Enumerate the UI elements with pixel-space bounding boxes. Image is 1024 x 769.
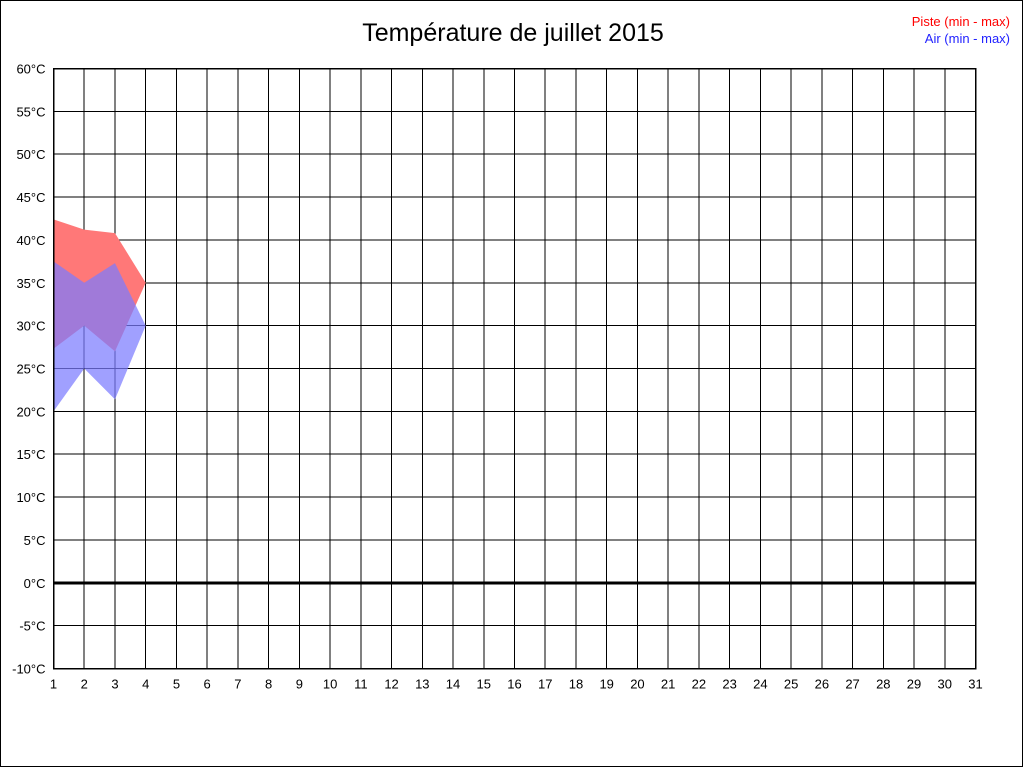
- x-tick-label: 24: [753, 677, 767, 692]
- y-tick-label: 5°C: [24, 533, 46, 548]
- grid-lines: [54, 69, 976, 669]
- y-tick-label: 50°C: [16, 147, 45, 162]
- series-bands: [54, 219, 146, 411]
- x-tick-label: 6: [204, 677, 211, 692]
- x-tick-label: 15: [477, 677, 491, 692]
- x-tick-label: 23: [722, 677, 736, 692]
- x-tick-label: 2: [81, 677, 88, 692]
- x-tick-label: 11: [354, 677, 368, 692]
- x-tick-label: 9: [296, 677, 303, 692]
- x-tick-label: 21: [661, 677, 675, 692]
- x-tick-label: 14: [446, 677, 460, 692]
- y-tick-label: 0°C: [24, 576, 46, 591]
- x-tick-label: 8: [265, 677, 272, 692]
- y-tick-label: 60°C: [16, 62, 45, 77]
- x-tick-label: 5: [173, 677, 180, 692]
- plot-area: 60°C55°C50°C45°C40°C35°C30°C25°C20°C15°C…: [1, 1, 1024, 769]
- x-tick-label: 25: [784, 677, 798, 692]
- x-tick-label: 17: [538, 677, 552, 692]
- x-tick-label: 7: [234, 677, 241, 692]
- y-tick-label: 55°C: [16, 104, 45, 119]
- x-tick-label: 3: [111, 677, 118, 692]
- x-tick-label: 26: [815, 677, 829, 692]
- x-tick-label: 31: [968, 677, 982, 692]
- x-tick-label: 18: [569, 677, 583, 692]
- x-tick-label: 16: [507, 677, 521, 692]
- x-tick-label: 27: [845, 677, 859, 692]
- x-tick-label: 10: [323, 677, 337, 692]
- y-axis-labels: 60°C55°C50°C45°C40°C35°C30°C25°C20°C15°C…: [12, 62, 45, 677]
- y-tick-label: 40°C: [16, 233, 45, 248]
- x-tick-label: 19: [599, 677, 613, 692]
- y-tick-label: 10°C: [16, 490, 45, 505]
- x-tick-label: 1: [50, 677, 57, 692]
- y-tick-label: 25°C: [16, 362, 45, 377]
- x-tick-label: 4: [142, 677, 149, 692]
- y-tick-label: 35°C: [16, 276, 45, 291]
- x-tick-label: 29: [907, 677, 921, 692]
- y-tick-label: 20°C: [16, 404, 45, 419]
- y-tick-label: 30°C: [16, 319, 45, 334]
- x-tick-label: 12: [384, 677, 398, 692]
- x-tick-label: 13: [415, 677, 429, 692]
- chart-svg: 60°C55°C50°C45°C40°C35°C30°C25°C20°C15°C…: [1, 1, 1024, 769]
- x-tick-label: 20: [630, 677, 644, 692]
- y-tick-label: 45°C: [16, 190, 45, 205]
- y-tick-label: -10°C: [12, 662, 45, 677]
- x-axis-labels: 1234567891011121314151617181920212223242…: [50, 677, 983, 692]
- x-tick-label: 30: [938, 677, 952, 692]
- y-tick-label: 15°C: [16, 447, 45, 462]
- x-tick-label: 28: [876, 677, 890, 692]
- x-tick-label: 22: [692, 677, 706, 692]
- chart-frame: Température de juillet 2015 Piste (min -…: [0, 0, 1023, 767]
- y-tick-label: -5°C: [19, 619, 45, 634]
